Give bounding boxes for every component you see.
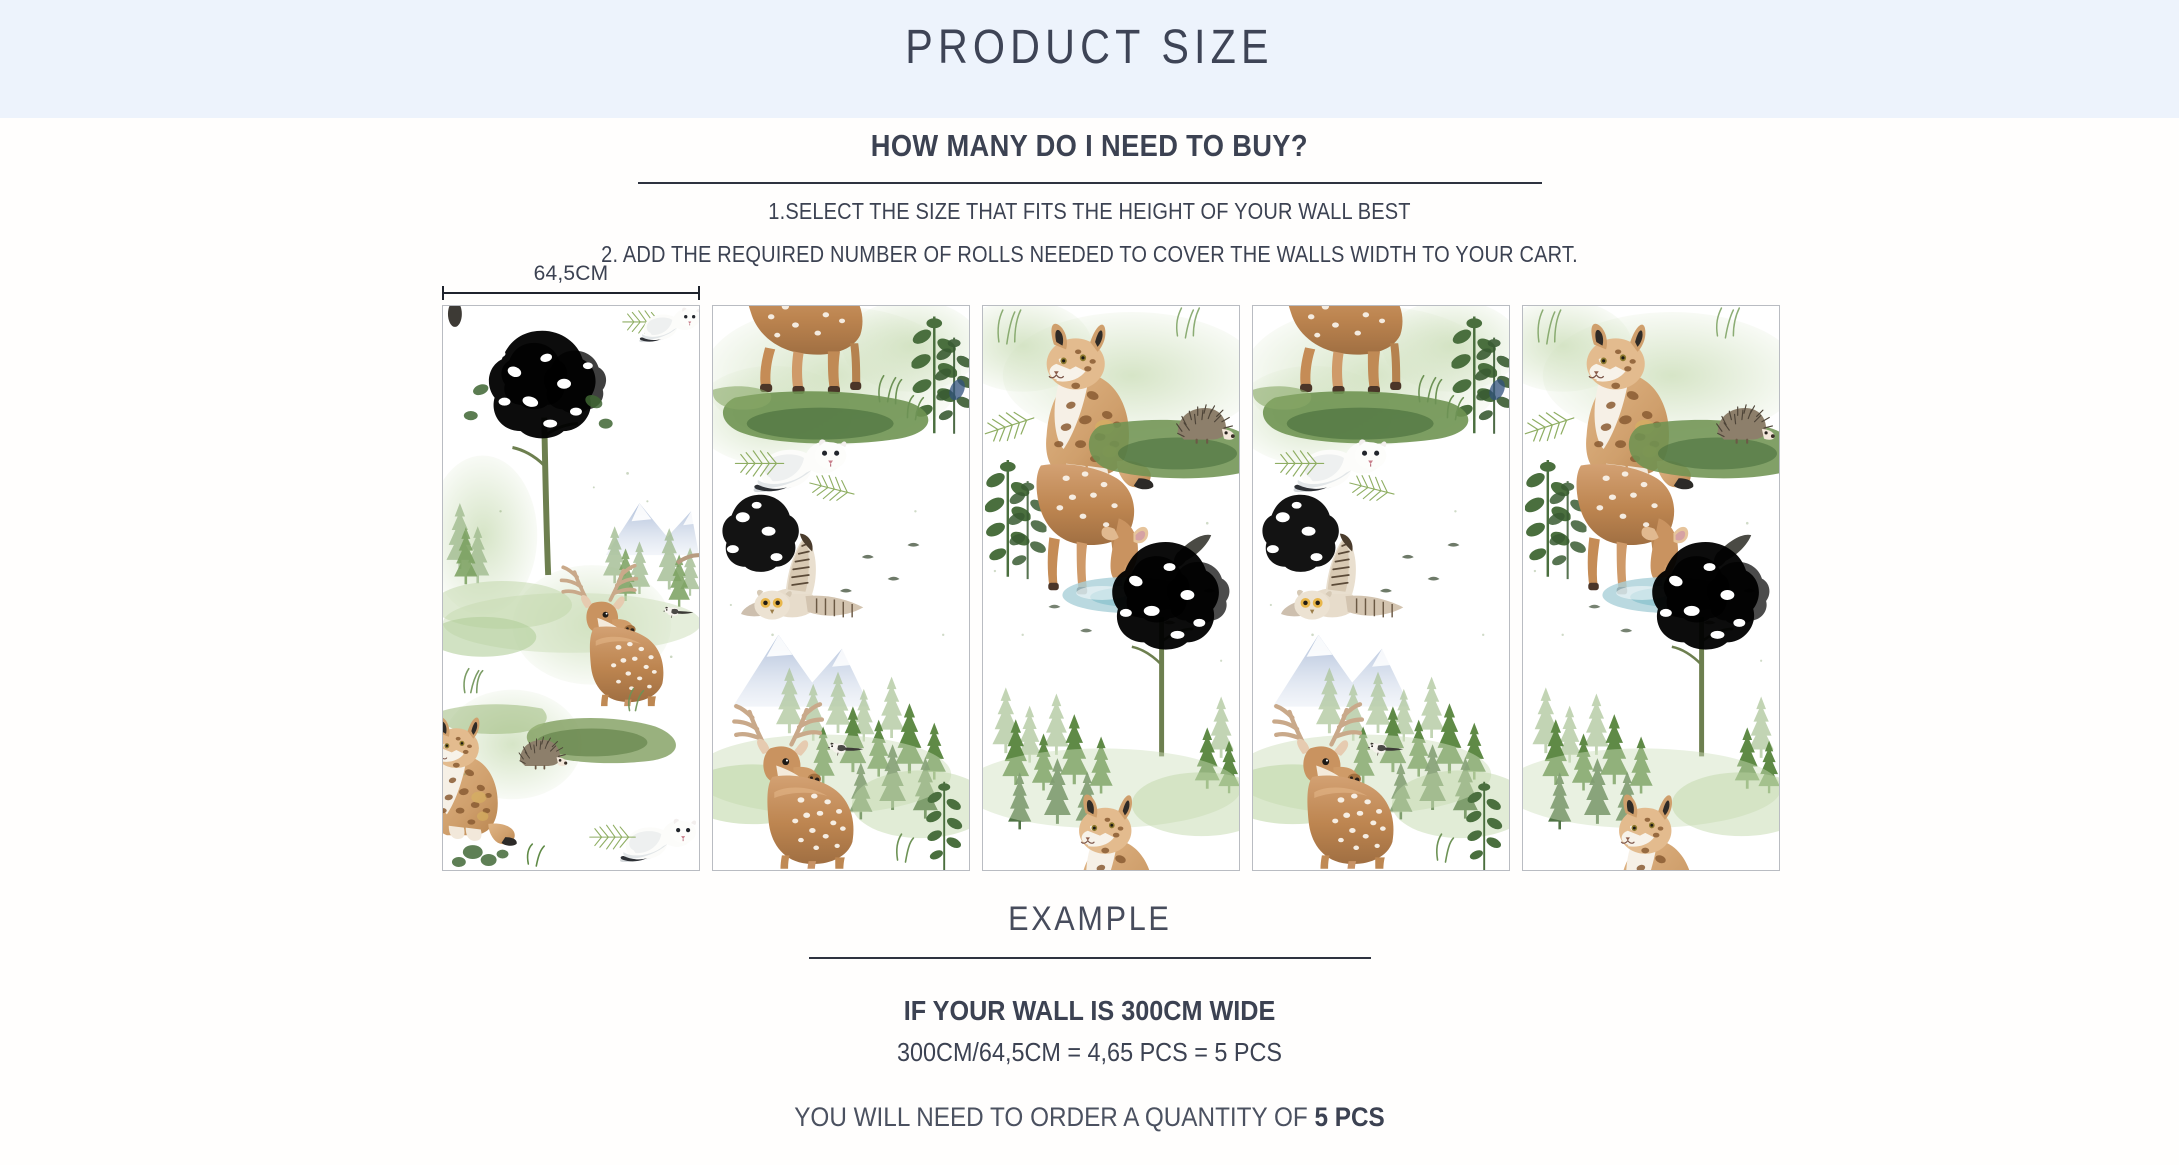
wallpaper-panel-5[interactable]	[1522, 305, 1780, 871]
panel-5-artwork	[1523, 306, 1779, 870]
example-section: EXAMPLE IF YOUR WALL IS 300CM WIDE 300CM…	[0, 900, 2179, 1133]
example-wall-width: IF YOUR WALL IS 300CM WIDE	[109, 995, 2070, 1027]
example-title-wrap: EXAMPLE	[0, 900, 2179, 939]
instruction-step-2: 2. ADD THE REQUIRED NUMBER OF ROLLS NEED…	[142, 241, 2038, 268]
example-divider	[809, 957, 1371, 959]
wallpaper-panel-4[interactable]	[1252, 305, 1510, 871]
panel-3-artwork	[983, 306, 1239, 870]
wallpaper-panel-2[interactable]	[712, 305, 970, 871]
panel-1-artwork	[443, 306, 699, 870]
example-order-quantity: YOU WILL NEED TO ORDER A QUANTITY OF 5 P…	[109, 1102, 2070, 1133]
instructions-heading-wrap: HOW MANY DO I NEED TO BUY?	[0, 128, 2179, 164]
example-calculation: 300CM/64,5CM = 4,65 PCS = 5 PCS	[109, 1037, 2070, 1068]
page-title: PRODUCT SIZE	[153, 20, 2027, 75]
measurement-bar	[442, 286, 700, 300]
example-title: EXAMPLE	[1008, 900, 1171, 939]
wallpaper-panel-3[interactable]	[982, 305, 1240, 871]
instructions-section: HOW MANY DO I NEED TO BUY? 1.SELECT THE …	[0, 128, 2179, 268]
panel-4-artwork	[1253, 306, 1509, 870]
instructions-divider	[638, 182, 1542, 184]
example-order-prefix: YOU WILL NEED TO ORDER A QUANTITY OF	[794, 1102, 1314, 1132]
wallpaper-panel-1[interactable]	[442, 305, 700, 871]
example-order-bold: 5 PCS	[1315, 1102, 1385, 1132]
measurement-tick-right	[698, 286, 700, 300]
measurement-line	[442, 292, 700, 294]
wallpaper-panel-strip	[442, 305, 1738, 871]
panel-2-artwork	[713, 306, 969, 870]
instruction-step-1: 1.SELECT THE SIZE THAT FITS THE HEIGHT O…	[142, 198, 2038, 225]
width-measurement: 64,5CM	[442, 262, 700, 304]
instructions-heading: HOW MANY DO I NEED TO BUY?	[871, 128, 1308, 164]
measurement-label: 64,5CM	[442, 262, 700, 286]
